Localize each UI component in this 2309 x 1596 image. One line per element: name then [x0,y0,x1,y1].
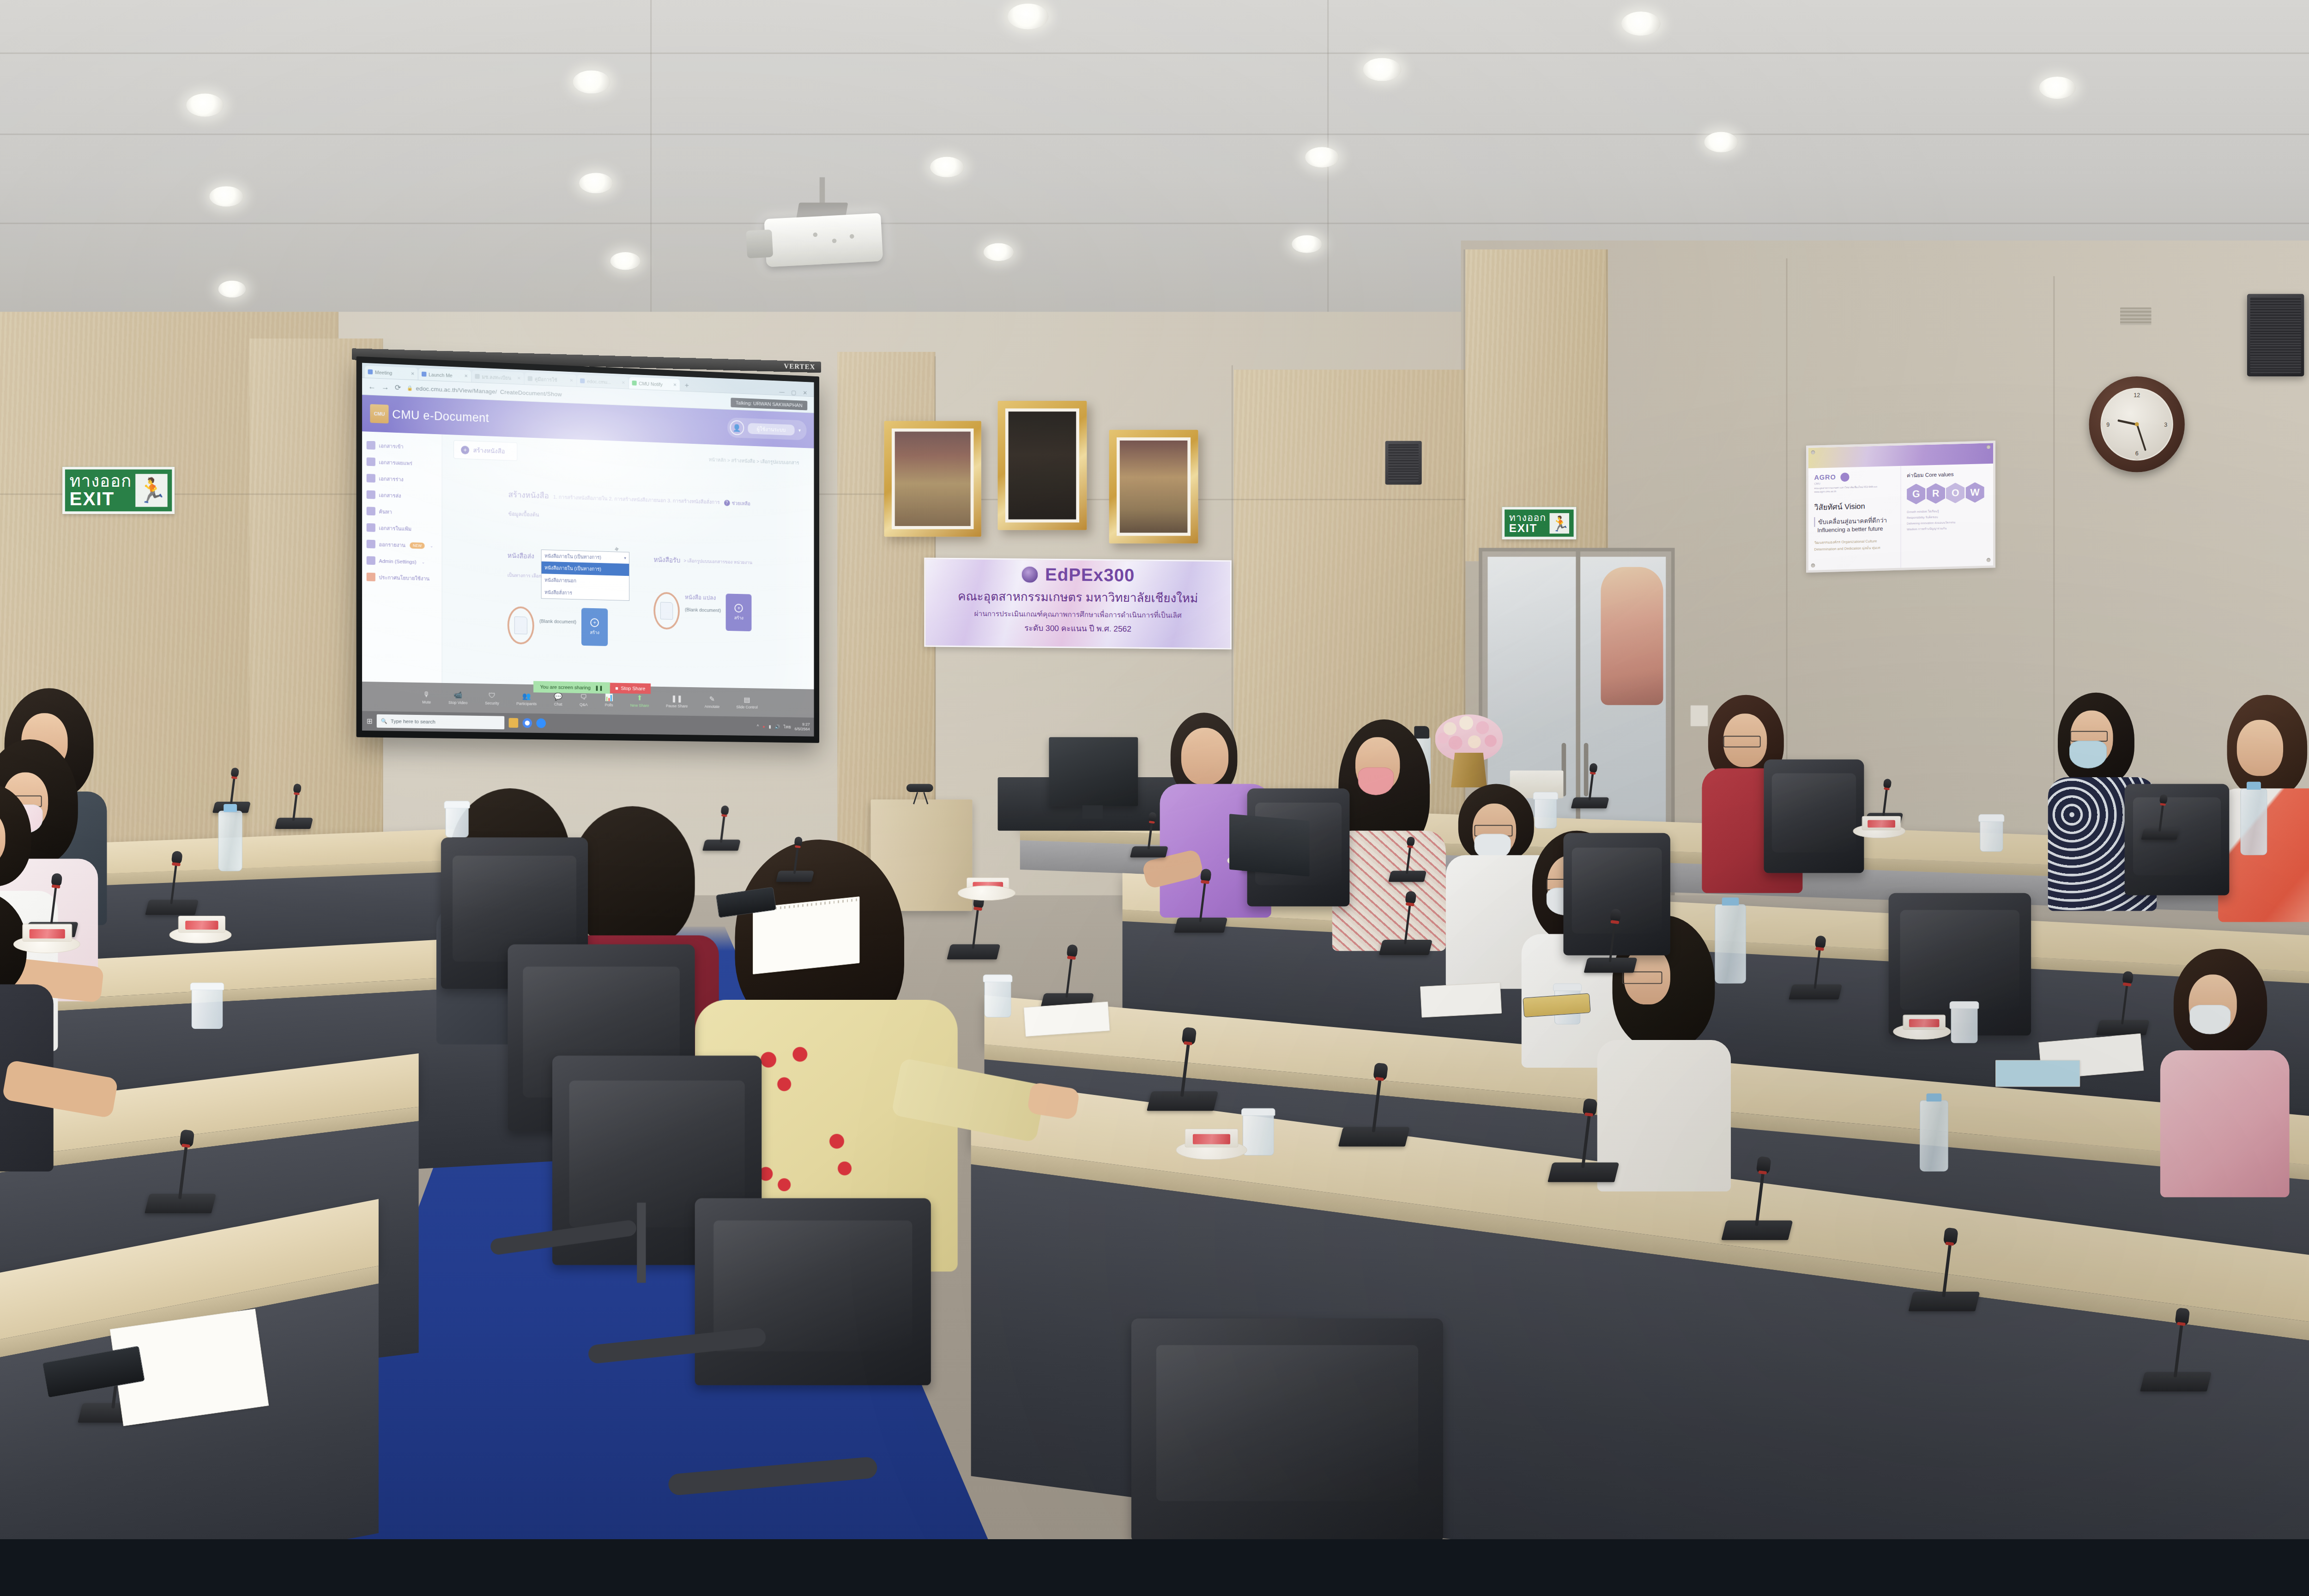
portrait-royal-couple [997,401,1087,530]
browser-tab[interactable]: มช.ลงทะเบียน ✕ [472,370,524,385]
page-subtitle: 1. การสร้างหนังสือภายใน 2. การสร้างหนังส… [553,493,720,506]
sidebar-item-search[interactable]: ค้นหา [362,502,442,521]
ceiling-projector [764,213,883,267]
chevron-down-icon[interactable]: ▾ [624,556,626,561]
button-label: Chat [554,702,562,707]
select-value-label: หนังสือภายใน (เป็นทางการ) [544,552,601,561]
conference-microphone[interactable] [1586,958,1636,973]
face-mask [2190,1005,2231,1034]
snack-pack[interactable] [178,916,225,933]
button-label: New Share [630,703,649,708]
face-mask [2069,741,2107,768]
sidebar-item-draft[interactable]: เอกสารร่าง [362,470,442,489]
button-label: Security [485,701,499,705]
notify-icon[interactable]: ● [762,724,765,729]
sidebar-label: เอกสารในแฟ้ม [379,524,411,532]
sidebar-label: เอกสารร่าง [379,474,403,483]
doc-caption: (Blank document) [539,618,576,624]
browser-window[interactable]: Meeting ✕ Launch Me ✕ มช.ลงทะเบียน ✕ คู่… [362,363,814,737]
plus-icon: + [735,604,743,612]
conference-microphone[interactable] [1381,940,1431,955]
folder-icon [367,523,375,532]
sidebar-item-outbox[interactable]: เอกสารส่ง [362,486,442,505]
zoom-chat-button[interactable]: 💬 Chat [554,692,562,707]
minimize-icon[interactable]: — [779,388,785,395]
conference-microphone[interactable] [1550,1162,1617,1182]
snack-plate [958,885,1015,901]
water-bottle[interactable] [218,810,242,871]
edpex-line-2: ผ่านการประเมินเกณฑ์คุณภาพการศึกษาเพื่อกา… [925,608,1230,622]
url-text-tail: CreateDocument/Show [500,388,562,398]
water-bottle[interactable] [2240,788,2267,855]
report-icon [367,540,375,549]
zoom-icon [422,372,426,377]
document-paper[interactable] [1023,1002,1110,1037]
ceiling-light [610,252,641,270]
reload-icon[interactable]: ⟳ [395,383,401,393]
network-icon[interactable]: ▮ [769,724,771,729]
edpex-award-title: EdPEx300 [1045,564,1135,585]
sidebar-label: เอกสารเข้า [379,441,403,450]
button-label: Pause Share [666,704,688,708]
zoom-qa-button[interactable]: 🗨 Q&A [580,693,588,707]
light-switch-plate[interactable] [1690,705,1708,726]
conference-microphone[interactable] [1176,918,1226,933]
button-label: Stop Video [448,700,467,705]
app-content: + สร้างหนังสือ หน้าหลัก > สร้างหนังสือ >… [442,435,814,700]
chrome-icon[interactable] [523,718,532,728]
snack-pack[interactable] [1862,816,1901,830]
monitor-stand [1082,805,1103,819]
app-sidebar[interactable]: เอกสารเข้า เอกสารเผยแพร่ เอกสารร่าง เอกส… [362,431,442,694]
clock-numeral: 6 [2135,450,2139,456]
office-chair[interactable] [1131,1318,1443,1539]
drinking-cup[interactable] [446,806,469,838]
blank-document-icon [508,606,534,645]
policy-icon [367,573,375,581]
browser-tab[interactable]: Launch Me ✕ [418,368,471,382]
ceiling-light [1008,4,1049,30]
arrow-up-icon[interactable]: ^ [757,724,759,728]
page-title-row: สร้างหนังสือ 1. การสร้างหนังสือภายใน 2. … [508,488,814,510]
url-text: edoc.cmu.ac.th/View/Manage/ [416,385,497,395]
wall-speaker-left [1385,441,1422,485]
grow-letter-g: G [1907,484,1926,504]
zoom-mute-button[interactable]: 🎙 Mute [422,690,431,704]
windows-icon[interactable]: ⊞ [367,717,373,725]
create-receive-document-button[interactable]: + สร้าง [726,593,752,631]
broadcast-icon [367,457,375,466]
clock-numeral: 12 [2134,392,2140,399]
video-icon: 📹 [453,691,462,699]
draft-icon [367,474,375,483]
conference-microphone[interactable] [1390,871,1425,882]
zoom-icon [368,369,373,375]
zoom-polls-button[interactable]: 📊 Polls [604,693,613,707]
tab-label: Meeting [375,369,392,375]
conference-microphone[interactable] [2142,1372,2209,1391]
conference-microphone[interactable] [949,944,998,960]
eyeglasses [2070,731,2108,742]
inbox-icon [367,441,375,450]
poster-vision-label: วิสัยทัศน์ Vision [1814,499,1895,513]
create-send-document-button[interactable]: + สร้าง [581,608,608,646]
drinking-cup[interactable] [1243,1113,1274,1155]
tab-label: มช.ลงทะเบียน [482,373,511,382]
exit-thai-label: ทางออก [69,472,132,490]
conference-microphone[interactable] [2098,1020,2148,1035]
doc-title: หนังสือ แปลง [685,592,721,603]
tab-label: คู่มือการใช้ [535,375,557,384]
stop-icon: ■ [616,685,618,690]
pause-icon[interactable]: ❚❚ [595,685,603,691]
conference-microphone[interactable] [276,818,312,829]
chevron-down-icon[interactable]: ▾ [798,427,801,433]
wall-clock: 12 3 6 9 [2089,376,2185,472]
system-tray[interactable]: ^ ● ▮ 🔊 ไทย 9:27 6/5/2564 [757,721,810,731]
ceiling-light [209,186,243,206]
exit-sign-right: ทางออก EXIT [1502,507,1576,539]
office-chair[interactable] [1563,833,1670,955]
help-link[interactable]: ? ช่วยเหลือ [724,499,750,508]
ceiling-light [1363,58,1401,81]
search-icon: 🔍 [381,718,387,725]
exit-sign-left: ทางออก EXIT [62,467,175,514]
snack-pack[interactable] [1903,1015,1946,1030]
head [1181,728,1228,785]
grow-letter-w: W [1965,482,1984,503]
exit-english-label: EXIT [69,490,132,508]
clock-minute-hand [2136,424,2146,451]
close-icon[interactable]: ✕ [570,378,574,383]
head [2237,720,2283,776]
button-label: Q&A [580,702,588,707]
sidebar-item-policy[interactable]: ประกาศนโยบายใช้งาน [362,568,442,587]
help-icon: ? [724,500,730,506]
site-icon [580,378,585,383]
sidebar-label: เอกสารส่ง [379,491,401,500]
edpex-seal-icon [1021,565,1039,583]
ceiling-light [1305,147,1339,167]
grow-letter-r: R [1926,483,1945,504]
eyeglasses [1723,736,1761,747]
pen-icon: ✎ [709,695,715,703]
button-label: สร้าง [590,629,599,636]
address-bar[interactable]: 🔒 edoc.cmu.ac.th/View/Manage/ CreateDocu… [407,385,562,398]
volume-icon[interactable]: 🔊 [775,724,780,729]
close-icon[interactable]: ✕ [673,382,677,387]
exit-english-label: EXIT [1509,522,1546,533]
pause-icon: ❚❚ [671,694,682,702]
new-tab-button[interactable]: + [681,381,693,392]
snack-pack[interactable] [1185,1129,1239,1148]
tab-label: edoc.cmu... [587,378,611,385]
microphone-icon: 🎙 [423,690,430,699]
search-placeholder: Type here to search [391,719,435,725]
maximize-icon[interactable]: ▢ [791,389,796,395]
ceiling-light [930,157,964,177]
conference-microphone[interactable] [1341,1127,1408,1146]
projection-screen: Meeting ✕ Launch Me ✕ มช.ลงทะเบียน ✕ คู่… [357,357,819,743]
window-controls[interactable]: — ▢ ✕ [779,388,811,396]
shield-icon: 🛡 [489,691,496,699]
tab-label: Launch Me [429,372,453,378]
conference-microphone[interactable] [1911,1292,1978,1311]
poster-culture-english: Determination and Dedication มุ่งมั่น ทุ… [1814,544,1895,553]
snack-pack[interactable] [22,924,72,942]
portrait-king [884,421,981,537]
conference-microphone[interactable] [1790,985,1840,1000]
screen-sharing-status: You are screen sharing ❚❚ [533,681,610,694]
sidebar-item-report[interactable]: ออกรายงาน NEW ⌄ [362,536,442,554]
document-type-select[interactable]: หนังสือภายใน (เป็นทางการ) ▾ หนังสือภายใน… [541,550,629,601]
agro-logo: AGRO [1814,473,1836,481]
sidebar-label: เอกสารเผยแพร่ [379,458,412,467]
sidebar-item-folder[interactable]: เอกสารในแฟ้ม [362,519,442,538]
vision-core-values-poster: AGRO CMU คณะอุตสาหกรรมเกษตร มหาวิทยาลัยเ… [1806,441,1995,573]
button-label: Participants [516,701,537,706]
zoom-pause-share-button[interactable]: ❚❚ Pause Share [666,694,688,708]
zoom-icon[interactable] [537,719,546,728]
ceiling-light [1292,235,1322,253]
conference-microphone[interactable] [147,900,197,915]
ceiling-light [2039,77,2076,99]
close-icon[interactable]: ✕ [622,380,625,385]
stop-share-button[interactable]: ■ Stop Share [610,683,651,694]
conference-microphone[interactable] [1572,797,1608,808]
webcam-tripod [913,792,928,804]
chat-icon: 💬 [554,692,562,701]
doc-caption: (Blank document) [685,607,721,613]
office-chair[interactable] [695,1198,931,1385]
portrait-queen [1109,430,1198,544]
gear-icon [367,556,375,565]
clock-center-pin [2135,422,2139,426]
create-button-label: สร้างหนังสือ [473,445,505,456]
ceiling-light [579,173,613,193]
sidebar-label: ออกรายงาน [379,540,405,549]
running-man-icon [135,474,167,507]
choice-send-document: หนังสือส่ง เป็นทางการ เลือกรูปแบบ หนังสื… [508,550,608,646]
hair [570,806,695,949]
new-badge: NEW [410,542,424,549]
file-explorer-icon[interactable] [509,718,519,728]
site-icon [475,374,479,379]
ceiling-light [984,243,1014,261]
forward-icon[interactable]: → [381,382,389,392]
button-label: Annotate [705,704,720,709]
water-bottle[interactable] [1920,1100,1948,1171]
sidebar-label: ค้นหา [379,508,392,516]
conference-microphone[interactable] [1131,846,1167,858]
lang-icon[interactable]: ไทย [784,723,791,730]
conference-microphone[interactable] [2142,828,2178,840]
page-title: สร้างหนังสือ [508,488,549,502]
avatar-icon: 👤 [730,420,744,435]
green-icon [632,381,637,386]
browser-tab[interactable]: คู่มือการใช้ ✕ [525,373,576,387]
search-input[interactable]: 🔍 Type here to search [377,714,505,730]
usb-webcam [907,784,933,792]
ceiling-light [186,94,224,117]
ceiling-light [218,281,246,298]
search-icon [367,507,375,515]
sidebar-item-inbox[interactable]: เอกสารเข้า [362,437,442,456]
drinking-cup[interactable] [1980,820,2003,852]
poster-address: คณะอุตสาหกรรมเกษตร มหาวิทยาลัยเชียงใหม่ … [1814,484,1895,494]
share-screen-icon: ⬆ [637,694,642,702]
poll-icon: 📊 [604,693,613,701]
drinking-cup[interactable] [192,988,223,1029]
required-note: ข้อมูลเบื้องต้น [508,509,814,527]
people-icon: 👥 [522,692,531,700]
conference-microphone[interactable] [147,1194,214,1213]
button-label: Polls [605,703,613,707]
plus-icon: + [591,618,599,627]
sidebar-item-admin[interactable]: Admin (Settings) ⌄ [362,552,442,570]
torso [2160,1050,2290,1197]
zoom-stop-video-button[interactable]: 📹 Stop Video [448,690,467,705]
ceiling-light [573,70,610,93]
create-document-button[interactable]: + สร้างหนังสือ [453,440,518,461]
clock-numeral: 9 [2106,421,2110,427]
browser-tab[interactable]: Meeting ✕ [365,366,418,380]
zoom-security-button[interactable]: 🛡 Security [485,691,499,705]
drinking-cup[interactable] [1535,797,1557,828]
choice-hint: > เลือกรูปแบบเอกสารของ หน่วยงาน [683,557,752,566]
screen-brand-label: VERTEX [784,362,815,371]
choice-label: หนังสือส่ง [508,550,534,562]
button-label: สร้าง [734,615,743,621]
grow-acronym: G R O W [1907,482,1988,505]
user-name-label: ผู้ใช้งานระบบ [748,423,795,435]
poster-core-values-label: ค่านิยม Core values [1907,469,1988,480]
browser-tab-active[interactable]: CMU Notify ✕ [629,377,680,391]
tab-label: CMU Notify [639,381,662,387]
office-chair[interactable] [1764,759,1864,873]
sidebar-label: Admin (Settings) [379,558,416,564]
clock-hour-hand [2117,419,2137,426]
chevron-down-icon[interactable]: ⌄ [422,560,425,564]
conference-microphone[interactable] [777,871,813,882]
drinking-cup[interactable] [1951,1007,1978,1043]
plus-icon: + [461,446,469,454]
sharing-label: You are screen sharing [540,684,590,690]
eyeglasses [1622,972,1662,984]
exit-thai-label: ทางออก [1509,513,1546,522]
zoom-share-indicator[interactable]: You are screen sharing ❚❚ ■ Stop Share [533,681,651,695]
slide-icon: ▤ [744,695,750,704]
zoom-annotate-button[interactable]: ✎ Annotate [705,695,720,708]
app-title: CMU e-Document [392,407,489,425]
help-label: ช่วยเหลือ [732,499,750,508]
close-icon[interactable]: ✕ [464,374,468,379]
running-man-icon [1550,513,1569,533]
cmu-logo: CMU [370,404,388,423]
taskbar-clock[interactable]: 9:27 6/5/2564 [795,722,810,732]
button-label: Slide Control [736,705,757,709]
ceiling-vent [2120,308,2152,326]
drinking-cup[interactable] [985,980,1011,1017]
ceiling-light [1704,132,1738,152]
conference-microphone[interactable] [704,840,739,851]
zoom-new-share-button[interactable]: ⬆ New Share [630,694,649,708]
lock-icon: 🔒 [407,385,413,391]
qa-icon: 🗨 [580,693,587,701]
water-bottle[interactable] [1715,904,1746,984]
document-paper[interactable] [1420,982,1502,1018]
stop-share-label: Stop Share [621,686,645,691]
select-option[interactable]: หนังสือสั่งการ [542,586,629,600]
meeting-room-photo: ทางออก EXIT ทางออก EXIT EdPEx300 คณะอุตส… [0,0,2309,1539]
choice-label: หนังสือรับ [653,555,680,566]
user-menu[interactable]: 👤 ผู้ใช้งานระบบ ▾ [727,417,807,441]
cmu-seal-icon [1841,472,1850,482]
edpex-line-3: ระดับ 300 คะแนน ปี พ.ศ. 2562 [925,621,1230,636]
button-label: Mute [422,700,431,704]
ceiling-light [1621,12,1661,36]
conference-microphone[interactable] [1149,1091,1216,1111]
chevron-down-icon[interactable]: ⌄ [430,544,433,548]
face-mask [1358,768,1394,795]
choice-receive-document: หนังสือรับ > เลือกรูปแบบเอกสารของ หน่วยง… [653,555,752,649]
edpex-line-1: คณะอุตสาหกรรมเกษตร มหาวิทยาลัยเชียงใหม่ [925,586,1230,608]
zoom-slide-control-button[interactable]: ▤ Slide Control [736,695,757,710]
flower-vase [1450,753,1488,787]
clock-numeral: 3 [2164,421,2167,427]
laptop-screen[interactable] [1229,814,1310,877]
person-behind-glass [1601,567,1663,705]
site-icon [528,376,532,381]
blank-document-icon [653,592,680,630]
conference-microphone[interactable] [1724,1221,1791,1240]
wall-speaker-right [2247,294,2304,376]
outbox-icon [367,490,375,499]
back-icon[interactable]: ← [369,382,376,391]
notes-paper[interactable] [1995,1060,2080,1087]
browser-tab[interactable]: edoc.cmu... ✕ [577,375,629,388]
av-monitor [1049,737,1138,806]
close-window-icon[interactable]: ✕ [803,390,808,396]
sidebar-label: ประกาศนโยบายใช้งาน [379,573,429,582]
grow-letter-o: O [1946,483,1965,503]
zoom-participants-button[interactable]: 👥 Participants [516,692,537,706]
clock-date: 6/5/2564 [795,727,810,732]
breadcrumb: หน้าหลัก > สร้างหนังสือ > เลือกรูปแบบเอก… [709,456,799,467]
chair-post [637,1203,646,1283]
sidebar-item-broadcast[interactable]: เอกสารเผยแพร่ [362,453,442,472]
edpex-banner: EdPEx300 คณะอุตสาหกรรมเกษตร มหาวิทยาลัยเ… [924,558,1232,650]
close-icon[interactable]: ✕ [517,375,521,381]
close-icon[interactable]: ✕ [411,371,415,376]
